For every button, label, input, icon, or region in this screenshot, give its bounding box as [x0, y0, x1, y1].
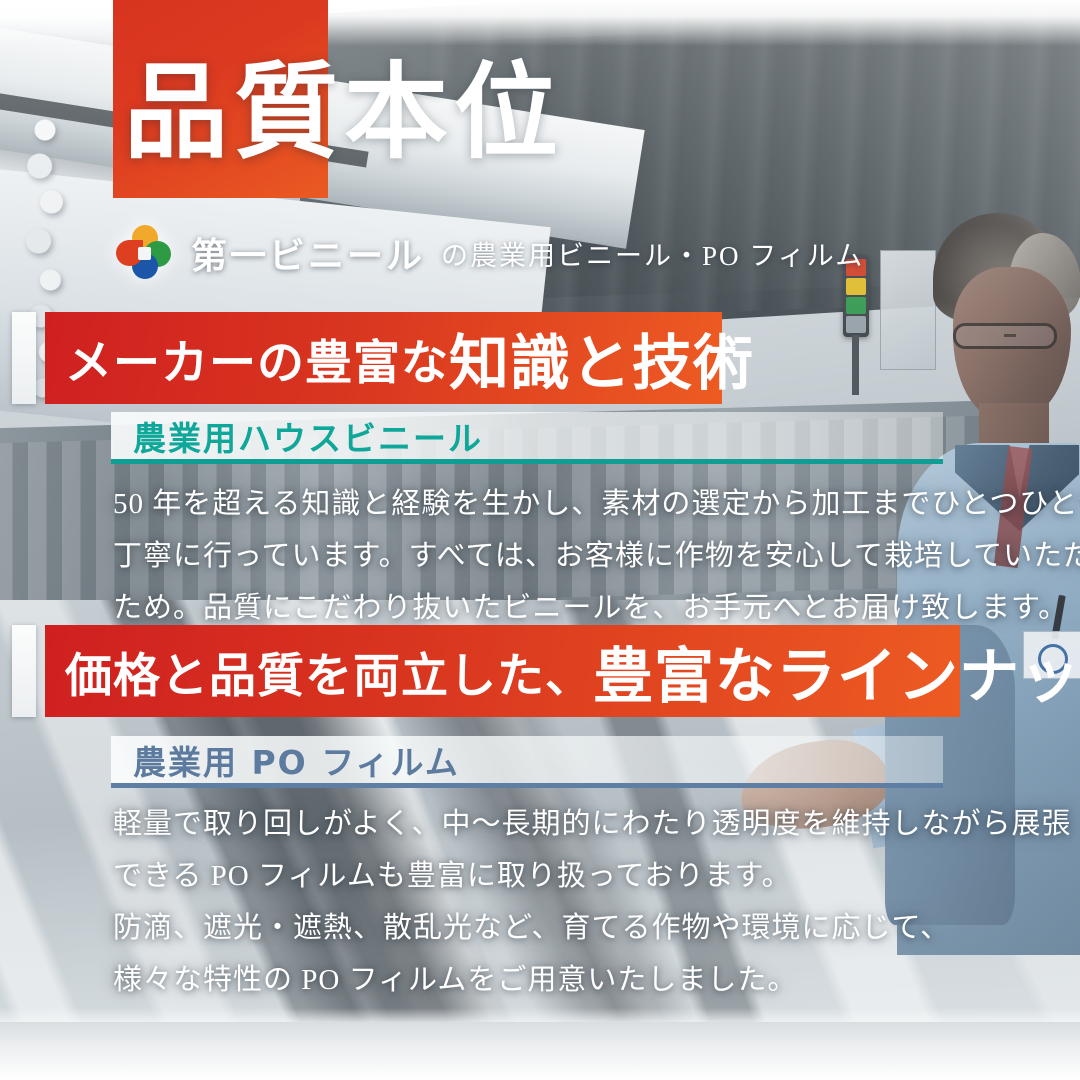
section-2-paragraph-line: できる PO フィルムも豊富に取り扱っております。: [113, 850, 973, 902]
section-2-banner: 価格と品質を両立した、 豊富なラインナップ: [45, 625, 960, 717]
section-2-paragraph-line: 防滴、遮光・遮熱、散乱光など、育てる作物や環境に応じて、: [113, 902, 973, 954]
section-2-paragraph-line: 様々な特性の PO フィルムをご用意いたしました。: [113, 954, 973, 1006]
section-1-banner-lead: メーカーの豊富な: [65, 324, 449, 393]
section-1-banner: メーカーの豊富な 知識と技術: [45, 312, 722, 404]
section-2-banner-emphasis: 豊富なラインナップ: [593, 628, 1080, 715]
brand-name: 第一ビニール: [191, 227, 425, 279]
section-2-paragraph: 軽量で取り回しがよく、中〜長期的にわたり透明度を維持しながら展張 できる PO …: [113, 798, 973, 1006]
page-title: 品質本位: [124, 62, 744, 166]
section-1-paragraph: 50 年を超える知識と経験を生かし、素材の選定から加工までひとつひとつ 丁寧に行…: [113, 478, 973, 634]
four-petal-pinwheel-logo-icon: [113, 225, 175, 281]
section-2-paragraph-line: 軽量で取り回しがよく、中〜長期的にわたり透明度を維持しながら展張: [113, 798, 973, 850]
section-1-sub-heading-plate: 農業用ハウスビニール: [111, 412, 943, 464]
section-1-sub-heading: 農業用ハウスビニール: [133, 412, 483, 460]
section-1-paragraph-line: 丁寧に行っています。すべては、お客様に作物を安心して栽培していただく: [113, 530, 973, 582]
brand-tagline: の農業用ビニール・PO フィルム: [441, 234, 864, 273]
section-1-tick-mark: [12, 312, 36, 404]
promo-banner-page: 品質本位 第一ビニール の農業用ビニール・PO フィルム メーカーの豊富な 知識…: [0, 0, 1080, 1080]
brand-row: 第一ビニール の農業用ビニール・PO フィルム: [113, 222, 864, 284]
section-1-paragraph-line: 50 年を超える知識と経験を生かし、素材の選定から加工までひとつひとつ: [113, 478, 973, 530]
content-overlay: 品質本位 第一ビニール の農業用ビニール・PO フィルム メーカーの豊富な 知識…: [0, 0, 1080, 1080]
section-1-banner-emphasis: 知識と技術: [449, 315, 754, 402]
section-2-tick-mark: [12, 625, 36, 717]
logo-center: [138, 247, 151, 260]
section-2-banner-lead: 価格と品質を両立した、: [65, 637, 593, 706]
section-2-sub-heading: 農業用 PO フィルム: [133, 736, 460, 784]
section-2-sub-heading-plate: 農業用 PO フィルム: [111, 736, 943, 788]
